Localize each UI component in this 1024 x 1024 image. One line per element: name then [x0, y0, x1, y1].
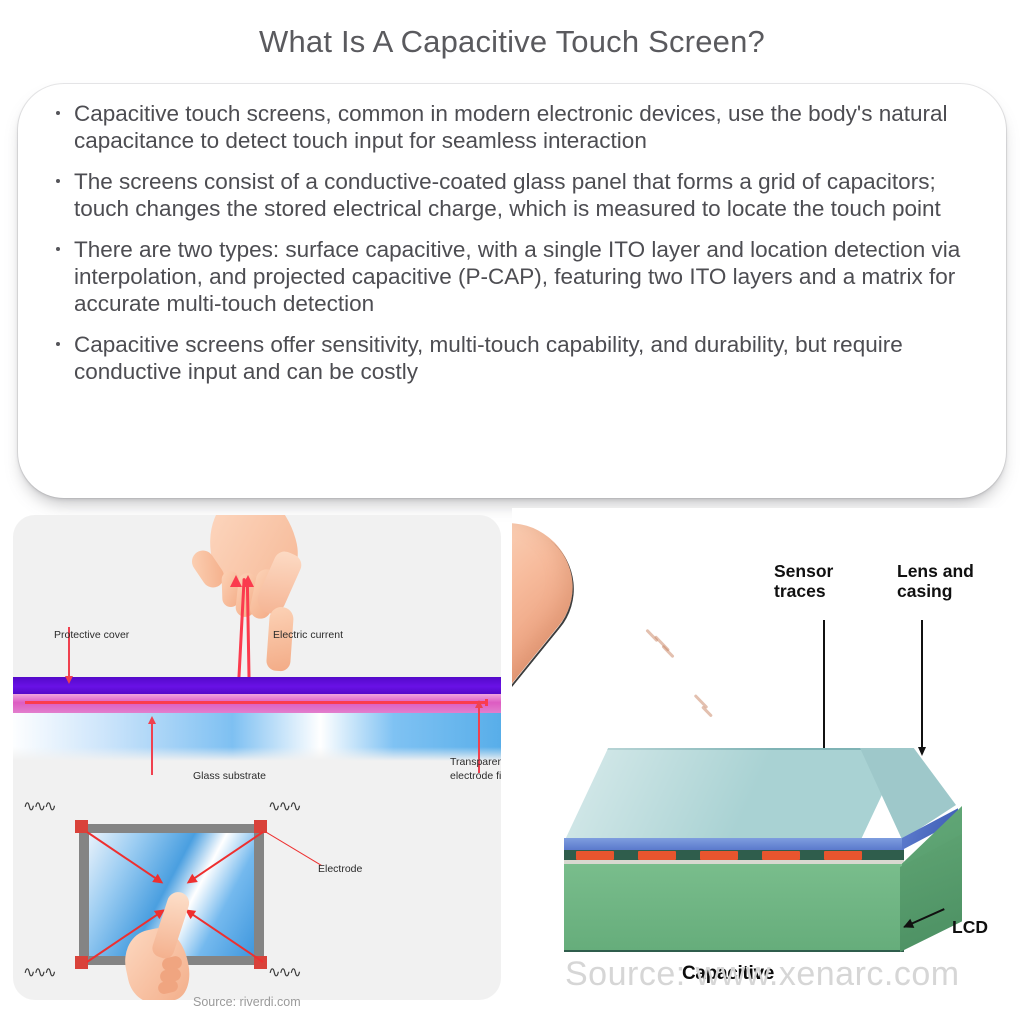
label-electric-current: Electric current [273, 629, 343, 641]
label-sensor-traces-line2: traces [774, 581, 826, 601]
sensor-trace [700, 851, 738, 860]
infographic-page: What Is A Capacitive Touch Screen? Capac… [0, 0, 1024, 1024]
current-flow-line-icon [25, 701, 487, 704]
label-protective-cover: Protective cover [54, 629, 129, 641]
resistor-zigzag-top-left-icon: ∿∿∿ [23, 797, 55, 815]
hand-touch-illustration [118, 895, 214, 1000]
sensor-trace [762, 851, 800, 860]
figure-capacitive-stack-diagram: Sensor traces Lens and casing [512, 508, 1024, 1013]
lens-casing-arrow-icon [921, 620, 923, 748]
label-lcd: LCD [952, 917, 988, 937]
casing-blue-band [564, 838, 904, 850]
bullet-text: Capacitive touch screens, common in mode… [74, 101, 948, 153]
summary-card: Capacitive touch screens, common in mode… [18, 84, 1006, 498]
label-lens-and-casing-line2: casing [897, 581, 952, 601]
protective-cover-layer [13, 677, 501, 694]
lens-specular-highlight [564, 748, 904, 840]
bullet-dot-icon [56, 342, 60, 346]
cross-section-scene: Protective cover Electric current Glass … [13, 515, 501, 790]
list-item: Capacitive screens offer sensitivity, mu… [54, 331, 982, 385]
figure-row: Protective cover Electric current Glass … [0, 508, 1024, 1024]
summary-bullet-list: Capacitive touch screens, common in mode… [54, 100, 982, 385]
source-riverdi: Source: riverdi.com [193, 995, 301, 1009]
resistor-zigzag-top-right-icon: ∿∿∿ [268, 797, 300, 815]
label-transparent-electrode-film-line1: Transparent [450, 756, 501, 768]
lcd-body [564, 864, 904, 952]
label-transparent-electrode-film-line2: electrode film [450, 770, 501, 782]
bullet-text: The screens consist of a conductive-coat… [74, 169, 941, 221]
figure-surface-capacitive-diagram: Protective cover Electric current Glass … [13, 515, 501, 1000]
electrode-corner-bottom-left [75, 956, 88, 969]
label-electrode: Electrode [318, 863, 362, 875]
electrode-grid-scene: ∿∿∿ ∿∿∿ ∿∿∿ ∿∿∿ Electrode [13, 787, 501, 1000]
resistor-zigzag-bottom-right-icon: ∿∿∿ [268, 963, 300, 981]
label-glass-substrate: Glass substrate [193, 770, 266, 782]
sensor-trace [824, 851, 862, 860]
watermark-xenarc: Source: www.xenarc.com [565, 955, 960, 994]
bullet-text: Capacitive screens offer sensitivity, mu… [74, 332, 903, 384]
bullet-text: There are two types: surface capacitive,… [74, 237, 960, 316]
list-item: There are two types: surface capacitive,… [54, 236, 982, 317]
device-stack-illustration [564, 748, 968, 948]
page-title: What Is A Capacitive Touch Screen? [0, 24, 1024, 60]
bullet-dot-icon [56, 179, 60, 183]
list-item: The screens consist of a conductive-coat… [54, 168, 982, 222]
label-lens-and-casing-line1: Lens and [897, 561, 974, 581]
hand-index-finger [150, 889, 192, 960]
list-item: Capacitive touch screens, common in mode… [54, 100, 982, 154]
bullet-dot-icon [56, 111, 60, 115]
resistor-zigzag-bottom-left-icon: ∿∿∿ [23, 963, 55, 981]
electrode-callout-line-icon [265, 831, 322, 866]
glass-substrate-arrow-icon [151, 723, 153, 775]
sensor-trace [576, 851, 614, 860]
glass-substrate-layer [13, 713, 501, 761]
label-sensor-traces-line1: Sensor [774, 561, 833, 581]
sensor-trace [638, 851, 676, 860]
bullet-dot-icon [56, 247, 60, 251]
